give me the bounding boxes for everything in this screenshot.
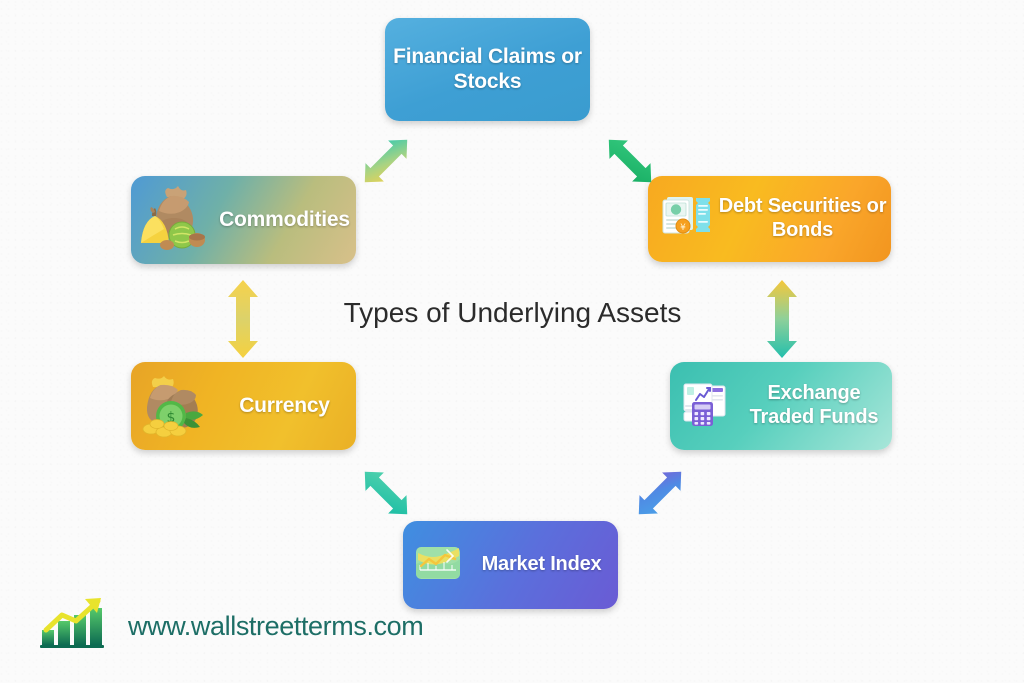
node-label-bonds: Debt Securities or Bonds: [714, 195, 891, 242]
footer-branding: www.wallstreetterms.com: [38, 596, 423, 657]
diagram-canvas: Financial Claims or Stocks ¥: [0, 0, 1024, 683]
connector-etf-index-arrow: [610, 458, 710, 533]
node-label-currency: Currency: [213, 394, 356, 419]
node-currency[interactable]: $ Currency: [131, 362, 356, 450]
node-label-index: Market Index: [465, 553, 618, 577]
market-chart-icon: [411, 536, 465, 595]
site-url-text: www.wallstreetterms.com: [128, 611, 423, 642]
node-label-stocks: Financial Claims or Stocks: [385, 45, 590, 95]
node-exchange-traded-funds[interactable]: Exchange Traded Funds: [670, 362, 892, 450]
commodity-sacks-icon: [137, 183, 213, 258]
connector-currency-commodities-arrow: [213, 276, 273, 367]
chart-document-calculator-icon: [678, 375, 736, 438]
svg-text:¥: ¥: [680, 223, 686, 233]
center-title: Types of Underlying Assets: [330, 294, 695, 332]
node-debt-securities-or-bonds[interactable]: ¥ Debt Securities or Bonds: [648, 176, 891, 262]
node-financial-claims-or-stocks[interactable]: Financial Claims or Stocks: [385, 18, 590, 121]
node-commodities[interactable]: Commodities: [131, 176, 356, 264]
node-label-etf: Exchange Traded Funds: [736, 382, 892, 429]
money-bag-coins-icon: $: [137, 369, 213, 444]
node-market-index[interactable]: Market Index: [403, 521, 618, 609]
connector-bonds-etf-arrow: [752, 276, 812, 367]
node-label-commodities: Commodities: [213, 208, 356, 233]
connector-commodities-stocks-arrow: [336, 126, 436, 201]
connector-index-currency-arrow: [336, 458, 436, 533]
growth-bar-chart-logo-icon: [38, 596, 120, 657]
connector-stocks-bonds-arrow: [580, 126, 680, 201]
